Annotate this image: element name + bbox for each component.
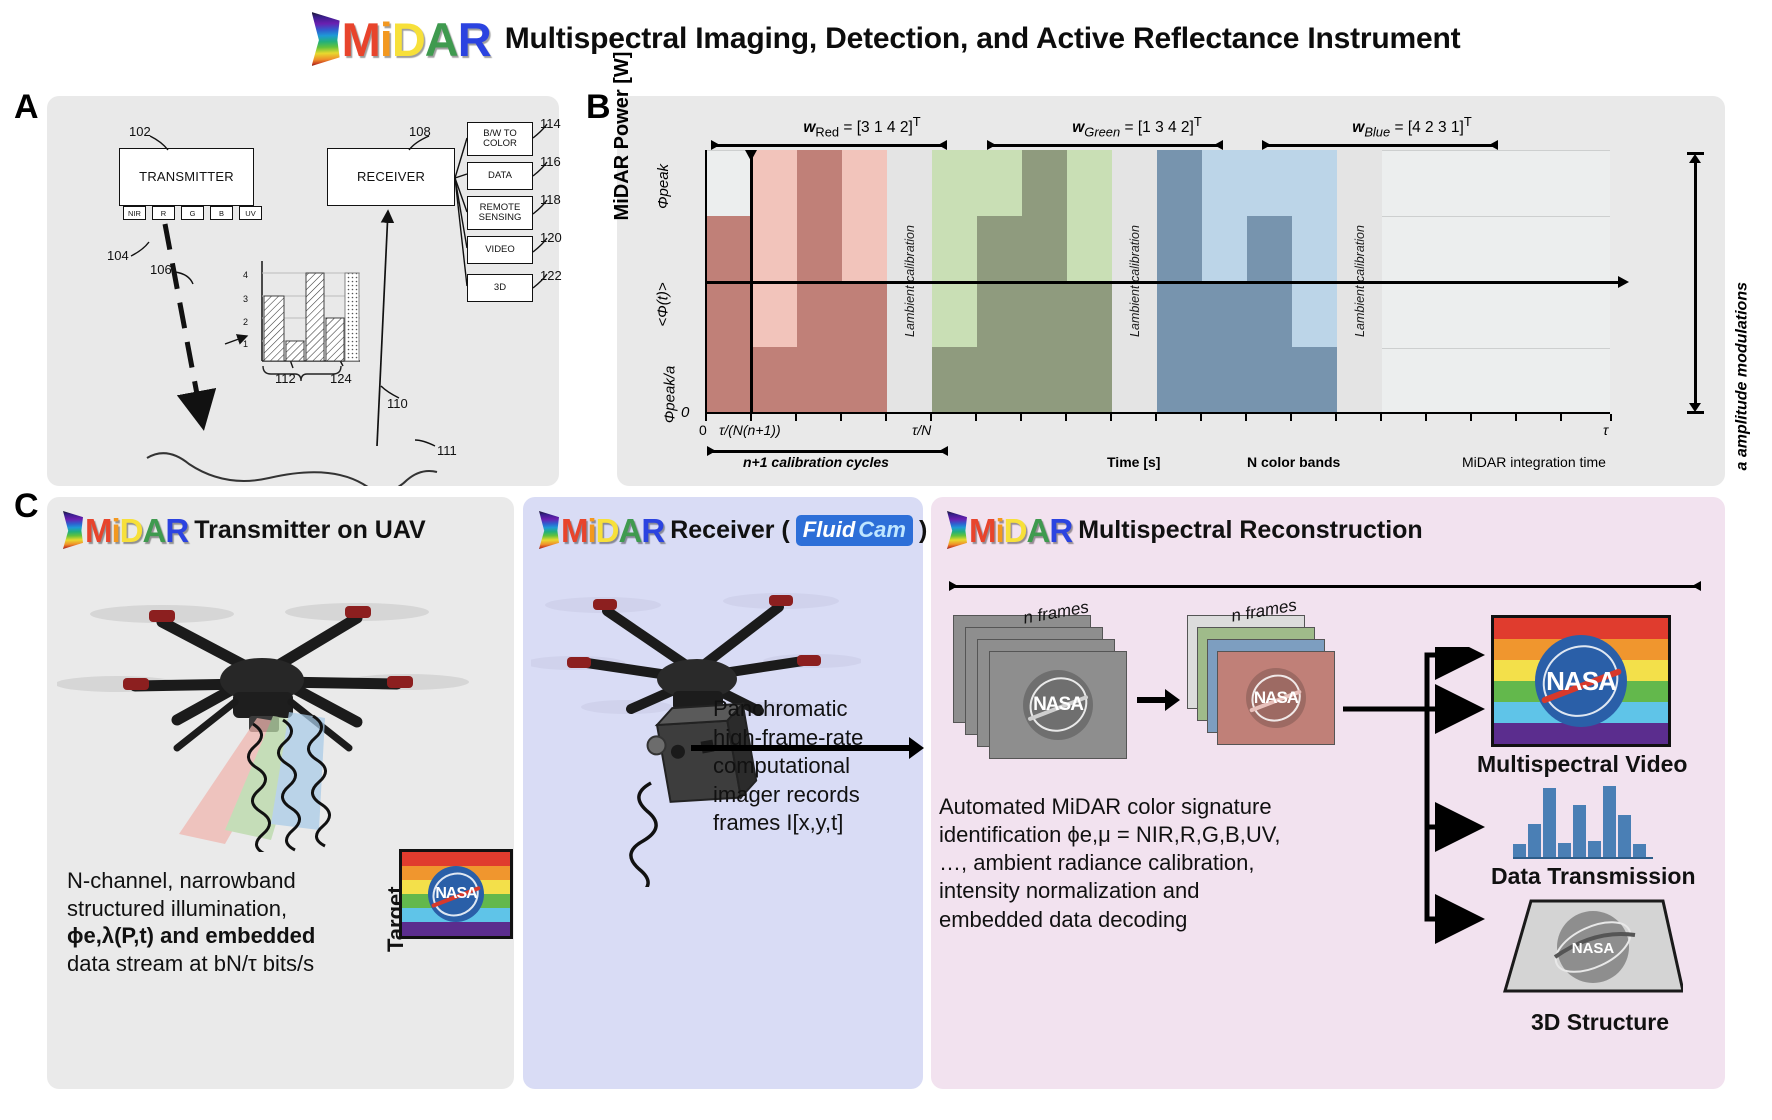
output-label-data-transmission: Data Transmission [1491, 863, 1691, 890]
output-label-3d-structure: 3D Structure [1525, 1009, 1675, 1036]
receiver-body-line-1: Panchromatic [713, 695, 918, 724]
logo-letter-i-mid: i [588, 514, 596, 547]
caption-calibration-cycles: n+1 calibration cycles [743, 454, 889, 470]
logo-letter-r-mid: R [641, 514, 664, 547]
reconstruction-body-line-4: intensity normalization and [939, 877, 1359, 905]
output-label-multispectral-video: Multispectral Video [1477, 751, 1687, 778]
rainbow-flame-icon [312, 12, 340, 66]
logo-letter-m-mid: M [561, 514, 588, 547]
range-arrow-green [985, 140, 1225, 150]
caption-cycles-text: n+1 calibration cycles [743, 454, 889, 470]
amplitude-modulations-label: a amplitude modulations [1733, 282, 1751, 470]
panel-c-reconstruction-card: M i D A R Multispectral Reconstruction N… [931, 497, 1725, 1089]
nasa-meatball-gray-1: NASA [1023, 670, 1093, 740]
receiver-body-line-4: imager records [713, 781, 918, 810]
ytick-phi-mean: <Φ(t)> [655, 282, 672, 326]
reconstruction-body-line-2: identification ϕe,μ = NIR,R,G,B,UV, [939, 821, 1359, 849]
panel-label-a: A [14, 88, 39, 127]
reconstruction-body-text: Automated MiDAR color signature identifi… [939, 793, 1359, 934]
logo-letter-i-left: i [112, 514, 120, 547]
weight-sub-blue: Blue [1364, 124, 1390, 139]
caption-time-axis: Time [s] [1107, 454, 1160, 470]
figure-title-bar: M i D A R Multispectral Imaging, Detecti… [0, 8, 1772, 70]
frame-stack-1-front: NASA [989, 651, 1127, 759]
weight-symbol-green: w [1072, 119, 1084, 136]
logo-letter-a-mid: A [619, 514, 642, 547]
panel-a-system-diagram: TRANSMITTER RECEIVER NIR R G B UV B/W TO… [47, 96, 559, 486]
weight-label-blue: wBlue = [4 2 3 1]T [1282, 114, 1542, 139]
reconstruction-heading-text: Multispectral Reconstruction [1078, 516, 1423, 545]
panel-a-lines [47, 96, 559, 486]
reconstruction-body-line-1: Automated MiDAR color signature [939, 793, 1359, 821]
xtick-tau-n-n1: τ/(N(n+1)) [719, 422, 781, 438]
logo-letter-d: D [392, 16, 425, 63]
receiver-heading-close: ) [919, 516, 927, 545]
logo-letter-d-mid: D [596, 514, 619, 547]
transmitter-body-line-1: N-channel, narrowband [67, 867, 397, 895]
ytick-zero: 0 [681, 404, 689, 421]
nasa-meatball-output: NASA [1535, 635, 1627, 727]
weight-sub-red: Red [815, 124, 839, 139]
nasa-meatball-red: NASA [1246, 668, 1306, 728]
frame-stack-2-red: NASA [1217, 651, 1335, 745]
stack-transition-arrow [1137, 697, 1167, 703]
logo-letter-r: R [458, 16, 491, 63]
transmitter-body-line-4: data stream at bN/τ bits/s [67, 950, 397, 978]
receiver-body-line-3: computational [713, 752, 918, 781]
weight-symbol-blue: w [1352, 119, 1364, 136]
xtick-tau-n: τ/N [912, 422, 931, 438]
transmitter-heading-text: Transmitter on UAV [194, 516, 426, 545]
amplitude-bracket [1683, 152, 1709, 414]
rainbow-flame-icon-left [63, 511, 83, 549]
panel-c-receiver-card: M i D A R Receiver ( Fluid Cam ) [523, 497, 923, 1089]
logo-letter-a-left: A [143, 514, 166, 547]
transmitter-body-text: N-channel, narrowband structured illumin… [67, 867, 397, 978]
reconstruction-body-line-3: …, ambient radiance calibration, [939, 849, 1359, 877]
calibration-cycle-marker [750, 150, 753, 414]
panel-b-power-chart: MiDAR Power [W] Φpeak <Φ(t)> Φpeak/a 0 w… [617, 96, 1725, 486]
nasa-wordmark-output: NASA [1546, 666, 1616, 697]
ytick-phi-peak: Φpeak [655, 164, 672, 209]
rainbow-flame-icon-right [947, 511, 967, 549]
mean-power-line [705, 281, 1620, 284]
nasa-wordmark-gray-1: NASA [1033, 694, 1083, 716]
weight-vector-blue: = [4 2 3 1] [1394, 119, 1463, 136]
midar-logo: M i D A R [312, 12, 491, 66]
logo-letter-i-right: i [996, 514, 1004, 547]
caption-color-bands: N color bands [1247, 454, 1340, 470]
logo-letter-r-left: R [165, 514, 188, 547]
fluidcam-cam-text: Cam [858, 517, 906, 543]
rainbow-flame-icon-mid [539, 511, 559, 549]
receiver-card-heading: M i D A R Receiver ( Fluid Cam ) [539, 511, 927, 549]
receiver-heading-text: Receiver ( [670, 516, 790, 545]
fluidcam-badge: Fluid Cam [796, 515, 913, 546]
logo-letter-i: i [380, 16, 392, 63]
receiver-to-reconstruction-arrow [691, 745, 911, 751]
transmitter-body-line-2: structured illumination, [67, 895, 397, 923]
reconstruction-span-arrow [947, 581, 1703, 591]
reconstruction-body-line-5: embedded data decoding [939, 906, 1359, 934]
svg-text:NASA: NASA [1572, 940, 1615, 957]
nasa-meatball-target: NASA [428, 866, 484, 922]
logo-letter-m-right: M [969, 514, 996, 547]
target-nasa-tile: NASA [399, 849, 513, 939]
panel-label-b: B [586, 88, 611, 127]
receiver-body-text: Panchromatic high-frame-rate computation… [713, 695, 918, 838]
logo-letter-d-left: D [120, 514, 143, 547]
transmitter-body-line-3: ϕe,λ(P,t) and embedded [67, 922, 397, 950]
output-multispectral-video-tile: NASA [1491, 615, 1671, 747]
logo-letter-a-right: A [1027, 514, 1050, 547]
receiver-body-line-5: frames I[x,y,t] [713, 809, 918, 838]
logo-letter-a: A [425, 16, 458, 63]
range-arrow-blue [1260, 140, 1500, 150]
weight-sub-green: Green [1084, 124, 1120, 139]
midar-logo-small-mid: M i D A R [539, 511, 664, 549]
y-axis-label: MiDAR Power [W] [611, 26, 634, 246]
nasa-wordmark-red: NASA [1254, 688, 1298, 708]
logo-letter-m-left: M [85, 514, 112, 547]
panel-c-transmitter-card: M i D A R Transmitter on UAV [47, 497, 514, 1089]
page-title: Multispectral Imaging, Detection, and Ac… [505, 22, 1461, 56]
output-data-transmission-histogram [1513, 785, 1653, 859]
transmitter-card-heading: M i D A R Transmitter on UAV [63, 511, 426, 549]
logo-letter-m: M [342, 16, 380, 63]
logo-letter-r-right: R [1049, 514, 1072, 547]
uav-transmitter-illustration [57, 552, 487, 852]
ytick-phi-peak-a: Φpeak/a [661, 366, 678, 424]
xtick-0: 0 [699, 422, 707, 438]
logo-letter-d-right: D [1004, 514, 1027, 547]
reconstruction-card-heading: M i D A R Multispectral Reconstruction [947, 511, 1423, 549]
range-arrow-red [709, 140, 949, 150]
amplitude-label-text: a amplitude modulations [1733, 282, 1750, 470]
xtick-tau: τ [1603, 422, 1608, 438]
weight-label-green: wGreen = [1 3 4 2]T [1007, 114, 1267, 139]
output-branch-arrows [1335, 647, 1495, 967]
panel-label-c: C [14, 487, 39, 526]
weight-symbol-red: w [803, 119, 815, 136]
fluidcam-fluid-text: Fluid [803, 517, 856, 543]
weight-label-red: wRed = [3 1 4 2]T [737, 114, 987, 139]
midar-logo-small-right: M i D A R [947, 511, 1072, 549]
midar-logo-small-left: M i D A R [63, 511, 188, 549]
caption-integration-time: MiDAR integration time [1462, 454, 1606, 470]
weight-vector-red: = [3 1 4 2] [843, 119, 912, 136]
output-3d-structure-tile: NASA [1493, 895, 1683, 1005]
weight-vector-green: = [1 3 4 2] [1124, 119, 1193, 136]
nasa-wordmark-target: NASA [435, 885, 476, 903]
